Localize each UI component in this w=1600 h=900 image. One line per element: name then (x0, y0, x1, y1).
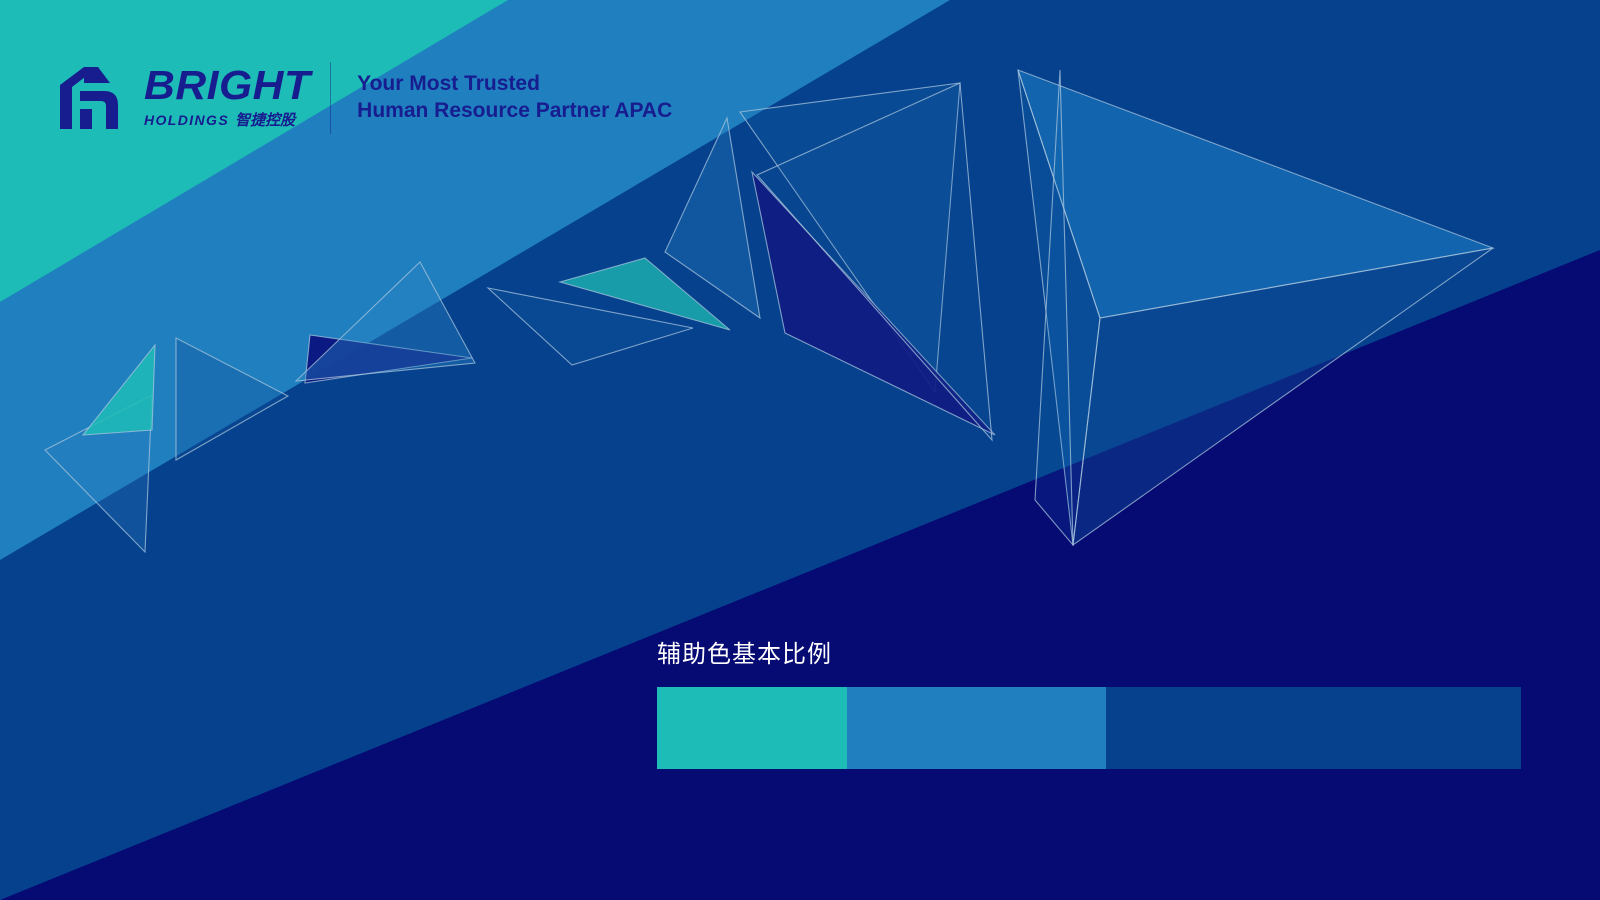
wordmark-holdings-chinese: 智捷控股 (235, 109, 295, 130)
tagline-line-1: Your Most Trusted (357, 71, 672, 98)
palette-swatch-deep-blue (1106, 687, 1521, 769)
palette-block: 辅助色基本比例 (657, 640, 1521, 769)
slide-canvas: BRIGHT HOLDINGS 智捷控股 Your Most Trusted H… (0, 0, 1600, 900)
palette-title: 辅助色基本比例 (657, 640, 1521, 669)
wordmark-bright: BRIGHT (144, 66, 311, 105)
brand-divider (330, 62, 331, 134)
palette-ratio-bar (657, 687, 1521, 769)
tagline-line-2: Human Resource Partner APAC (357, 98, 672, 125)
palette-swatch-mid-blue (847, 687, 1106, 769)
bright-holdings-h-mark (58, 65, 130, 131)
brand-wordmark: BRIGHT HOLDINGS 智捷控股 (144, 66, 304, 130)
palette-swatch-teal (657, 687, 847, 769)
wordmark-holdings: HOLDINGS (144, 112, 229, 128)
brand-lockup: BRIGHT HOLDINGS 智捷控股 Your Most Trusted H… (58, 56, 672, 140)
tagline: Your Most Trusted Human Resource Partner… (357, 71, 672, 125)
